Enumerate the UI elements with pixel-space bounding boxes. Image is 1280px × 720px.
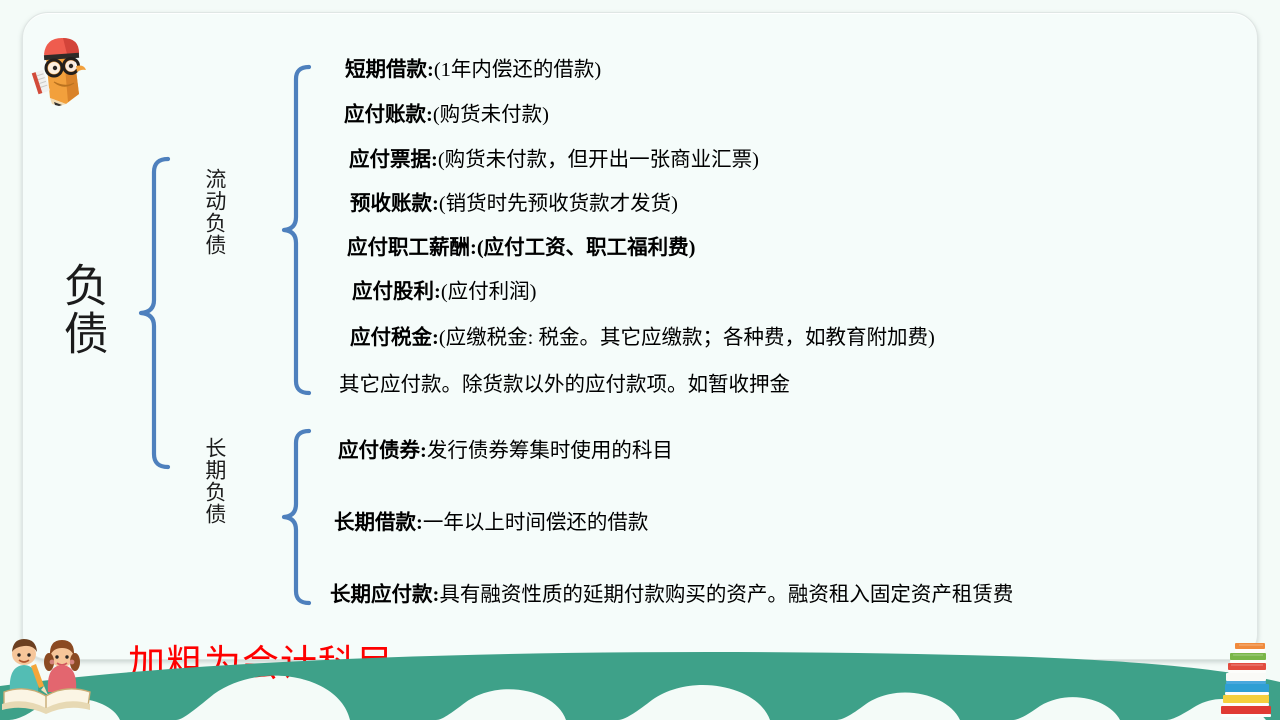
item-desc: (应缴税金: 税金。其它应缴款；各种费，如教育附加费)	[439, 327, 935, 349]
item-long-term-payables: 长期应付款:具有融资性质的延期付款购买的资产。融资租入固定资产租赁费	[330, 583, 1013, 609]
item-employee-compensation-payable: 应付职工薪酬:(应付工资、职工福利费)	[347, 236, 695, 262]
item-other-payables: 其它应付款。除货款以外的应付款项。如暂收押金	[339, 373, 790, 399]
brace-current-liabilities	[281, 64, 317, 404]
item-desc: (购货未付款)	[433, 104, 549, 126]
item-term: 应付职工薪酬:	[347, 237, 477, 259]
item-term: 应付票据:	[349, 149, 438, 171]
item-desc: 一年以上时间偿还的借款	[423, 512, 649, 534]
slide-canvas: 负债 流动负债 短期借款:(1年内偿还的借款) 应付账款:(购货未付款) 应付票…	[0, 0, 1280, 720]
item-advances-from-customers: 预收账款:(销货时先预收货款才发货)	[350, 192, 678, 218]
item-dividends-payable: 应付股利:(应付利润)	[352, 280, 536, 306]
item-short-term-loan: 短期借款:(1年内偿还的借款)	[345, 58, 601, 84]
children-reading-book-icon	[0, 634, 96, 714]
item-notes-payable: 应付票据:(购货未付款，但开出一张商业汇票)	[349, 148, 759, 174]
item-desc: 发行债券筹集时使用的科目	[427, 440, 673, 462]
item-desc: (1年内偿还的借款)	[434, 59, 601, 81]
root-label-liability: 负债	[58, 262, 105, 358]
item-taxes-payable: 应付税金:(应缴税金: 税金。其它应缴款；各种费，如教育附加费)	[350, 326, 935, 352]
item-desc: (购货未付款，但开出一张商业汇票)	[438, 149, 759, 171]
item-accounts-payable: 应付账款:(购货未付款)	[344, 103, 549, 129]
branch-label-current-liabilities: 流动负债	[203, 168, 225, 256]
scalloped-wave-decoration	[0, 640, 1280, 720]
item-desc: (应付工资、职工福利费)	[477, 237, 696, 259]
pencil-character-icon	[30, 36, 92, 106]
item-desc: (销货时先预收货款才发货)	[439, 193, 678, 215]
item-term: 应付账款:	[344, 104, 433, 126]
item-desc: 具有融资性质的延期付款购买的资产。融资租入固定资产租赁费	[439, 584, 1013, 606]
item-term: 应付股利:	[352, 281, 441, 303]
item-term: 预收账款:	[350, 193, 439, 215]
item-desc: (应付利润)	[441, 281, 537, 303]
book-stack-icon	[1219, 641, 1275, 717]
brace-root	[138, 156, 178, 472]
item-term: 应付税金:	[350, 327, 439, 349]
item-bonds-payable: 应付债券:发行债券筹集时使用的科目	[338, 439, 673, 465]
branch-label-long-term-liabilities: 长期负债	[203, 437, 225, 525]
item-long-term-loan: 长期借款:一年以上时间偿还的借款	[334, 511, 648, 537]
item-term: 应付债券:	[338, 440, 427, 462]
item-desc: 其它应付款。除货款以外的应付款项。如暂收押金	[339, 374, 790, 396]
brace-long-term-liabilities	[281, 428, 317, 614]
item-term: 长期应付款:	[330, 584, 439, 606]
item-term: 长期借款:	[334, 512, 423, 534]
item-term: 短期借款:	[345, 59, 434, 81]
